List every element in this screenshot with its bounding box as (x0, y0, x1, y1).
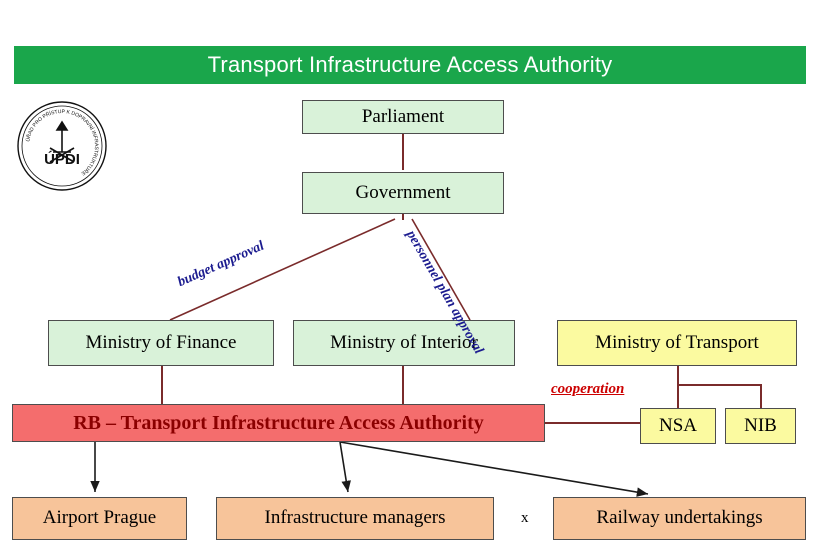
edge-authority-railway (340, 442, 648, 494)
page-title: Transport Infrastructure Access Authorit… (14, 46, 806, 84)
node-nib[interactable]: NIB (725, 408, 796, 444)
node-nsa[interactable]: NSA (640, 408, 716, 444)
node-railway-undertakings[interactable]: Railway undertakings (553, 497, 806, 540)
node-ministry-of-transport[interactable]: Ministry of Transport (557, 320, 797, 366)
diagram-canvas: Transport Infrastructure Access Authorit… (0, 0, 820, 556)
node-ministry-of-finance[interactable]: Ministry of Finance (48, 320, 274, 366)
edge-label-x: x (521, 510, 529, 527)
node-infrastructure-managers[interactable]: Infrastructure managers (216, 497, 494, 540)
edge-parliament-government (402, 134, 404, 170)
node-authority[interactable]: RB – Transport Infrastructure Access Aut… (12, 404, 545, 442)
node-airport-prague[interactable]: Airport Prague (12, 497, 187, 540)
edge-transport-split (677, 384, 761, 386)
node-parliament[interactable]: Parliament (302, 100, 504, 134)
edge-authority-infrastructure (340, 442, 348, 492)
edge-label-cooperation: cooperation (551, 381, 624, 398)
edge-authority-cooperation (545, 422, 640, 424)
edge-interior-authority (402, 366, 404, 404)
edge-transport-nib (760, 384, 762, 408)
node-government[interactable]: Government (302, 172, 504, 214)
edge-transport-stub (677, 366, 679, 385)
edge-government-stub (402, 214, 404, 220)
logo-svg: ÚPDI ÚŘAD PRO PŘÍSTUP K DOPRAVNÍ INFRAST… (12, 96, 112, 196)
edge-transport-nsa (677, 384, 679, 408)
logo-acronym: ÚPDI (44, 150, 80, 168)
edge-finance-authority (161, 366, 163, 404)
edge-label-budget-approval: budget approval (175, 239, 266, 291)
updi-logo: ÚPDI ÚŘAD PRO PŘÍSTUP K DOPRAVNÍ INFRAST… (12, 96, 112, 196)
